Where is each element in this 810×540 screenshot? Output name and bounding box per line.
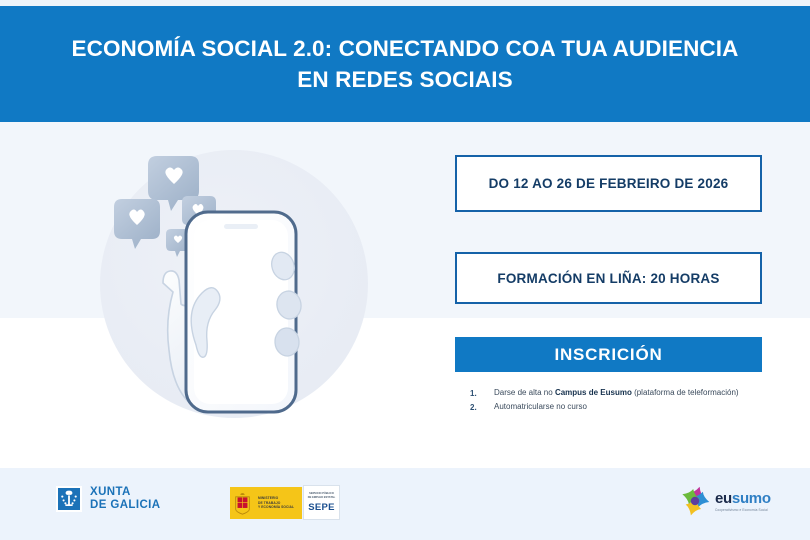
eusumo-tagline: Cooperativismo e Economía Social	[715, 508, 771, 512]
sepe-wordmark: SEPE	[308, 502, 335, 513]
step-text: Darse de alta no Campus de Eusumo (plata…	[494, 387, 739, 399]
sepe-line2: DE EMPLEO ESTATAL	[308, 496, 335, 500]
step-number: 2.	[470, 401, 494, 413]
xunta-de-galicia-logo: XUNTA DE GALICIA	[56, 486, 160, 512]
hours-label: FORMACIÓN EN LIÑA: 20 HORAS	[497, 271, 719, 286]
eusumo-word-light: sumo	[732, 490, 771, 507]
xunta-wordmark: XUNTA DE GALICIA	[90, 486, 160, 512]
dates-info-box: DO 12 AO 26 DE FEBREIRO DE 2026	[455, 155, 762, 212]
eusumo-word-bold: eu	[715, 490, 732, 507]
poster-header: ECONOMÍA SOCIAL 2.0: CONECTANDO COA TUA …	[0, 6, 810, 122]
step-number: 1.	[470, 387, 494, 399]
hero-illustration	[78, 140, 398, 450]
xunta-line2: DE GALICIA	[90, 499, 160, 512]
step-text-bold[interactable]: Campus de Eusumo	[555, 388, 632, 397]
inscripcion-title: INSCRICIÓN	[554, 345, 662, 365]
poster-canvas: ECONOMÍA SOCIAL 2.0: CONECTANDO COA TUA …	[0, 0, 810, 540]
ministerio-line3: Y ECONOMÍA SOCIAL	[258, 505, 294, 510]
ministerio-logo: MINISTERIO DE TRABAJO Y ECONOMÍA SOCIAL	[230, 487, 302, 519]
spain-coat-of-arms-icon	[230, 487, 255, 519]
galicia-crest-icon	[56, 486, 82, 512]
phone-speaker	[224, 224, 258, 229]
inscripcion-header-bar: INSCRICIÓN	[455, 337, 762, 372]
ministerio-wordmark: MINISTERIO DE TRABAJO Y ECONOMÍA SOCIAL	[255, 496, 294, 510]
inscripcion-steps-list: 1. Darse de alta no Campus de Eusumo (pl…	[470, 387, 770, 415]
sepe-logo: SERVICIO PÚBLICO DE EMPLEO ESTATAL SEPE	[303, 485, 340, 520]
list-item: 1. Darse de alta no Campus de Eusumo (pl…	[470, 387, 770, 399]
step-text-before: Automatricularse no curso	[494, 402, 587, 411]
step-text-after: (plataforma de teleformación)	[632, 388, 739, 397]
eusumo-logo: eusumo Cooperativismo e Economía Social	[678, 484, 771, 518]
hours-info-box: FORMACIÓN EN LIÑA: 20 HORAS	[455, 252, 762, 304]
step-text: Automatricularse no curso	[494, 401, 587, 413]
dates-label: DO 12 AO 26 DE FEBREIRO DE 2026	[489, 176, 729, 191]
page-title: ECONOMÍA SOCIAL 2.0: CONECTANDO COA TUA …	[70, 33, 740, 95]
step-text-before: Darse de alta no	[494, 388, 555, 397]
eusumo-wordmark: eusumo	[715, 491, 771, 506]
hand-holding-smartphone-icon	[78, 140, 398, 450]
list-item: 2. Automatricularse no curso	[470, 401, 770, 413]
eusumo-star-icon	[678, 484, 712, 518]
xunta-line1: XUNTA	[90, 486, 160, 499]
like-bubble-medium	[114, 199, 160, 249]
